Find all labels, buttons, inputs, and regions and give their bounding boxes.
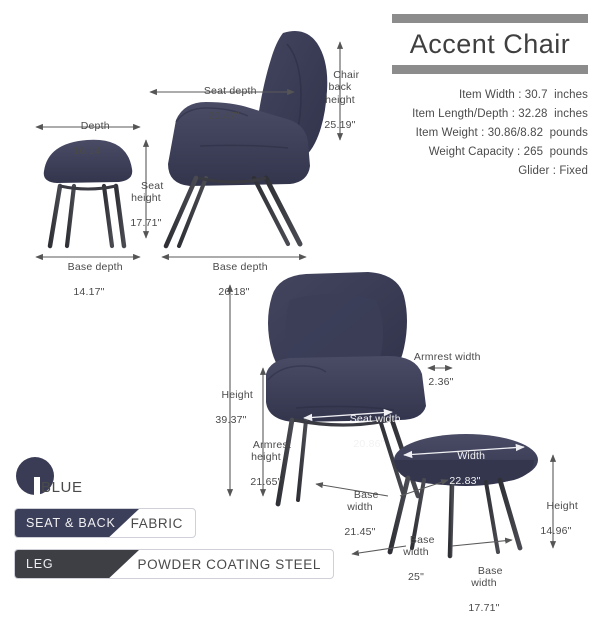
dim-label-text: Chair back height xyxy=(325,69,359,106)
dim-label-text: Seat depth xyxy=(204,85,257,97)
material-bar-key: SEAT & BACK xyxy=(26,508,116,538)
material-bar-seat-and-back: SEAT & BACK FABRIC xyxy=(14,508,196,538)
dim-label-text: Base width xyxy=(471,565,502,590)
dim-label-armrest-height: Armrest height 21.65" xyxy=(240,426,292,514)
dim-label-text: Depth xyxy=(81,120,110,132)
dim-label-text: Base width xyxy=(403,534,434,559)
dim-label-ottoman-depth: Depth 16.14" xyxy=(54,107,124,182)
spec-row-item-width: Item Width : 30.7 inches xyxy=(392,86,588,105)
product-spec-sheet: Depth 16.14" Base depth 14.17" Seat dept… xyxy=(0,0,600,600)
material-bar-leg: LEG POWDER COATING STEEL xyxy=(14,549,334,579)
dim-label-value: 26.18" xyxy=(194,286,274,299)
material-bar-key: LEG xyxy=(26,549,53,579)
divider-bottom xyxy=(392,65,588,74)
dim-label-value: 21.45" xyxy=(338,526,382,539)
dim-label-armrest-width: Armrest width 2.36" xyxy=(402,338,480,413)
spec-panel: Accent Chair Item Width : 30.7 inches It… xyxy=(392,14,588,181)
dim-label-text: Seat width xyxy=(350,413,401,425)
dim-label-value: 21.65" xyxy=(240,476,292,489)
dim-label-text: Armrest height xyxy=(251,439,291,464)
dim-label-value: 14.17" xyxy=(50,286,128,299)
dim-label-text: Height xyxy=(221,389,253,401)
dim-label-ottoman-width: Width 22.83" xyxy=(434,437,496,512)
swatch-label: BLUE xyxy=(41,479,83,496)
dim-label-text: Base depth xyxy=(68,261,123,273)
dim-label-ottoman-base-depth: Base depth 14.17" xyxy=(50,248,128,323)
dim-label-chair-base-depth: Base depth 26.18" xyxy=(194,248,274,323)
dim-label-ottoman-base-width: Base width 17.71" xyxy=(462,552,506,640)
dim-label-seat-width: Seat width 20.86" xyxy=(334,400,404,475)
dim-label-value: 25.19" xyxy=(316,119,364,132)
dim-label-value: 16.14" xyxy=(54,145,124,158)
dim-label-value: 22.83" xyxy=(434,475,496,488)
dim-label-value: 2.36" xyxy=(402,376,480,389)
dim-label-text: Base depth xyxy=(213,261,268,273)
dim-label-seat-depth: Seat depth 20.47" xyxy=(186,72,262,147)
dim-label-value: 20.86" xyxy=(334,438,404,451)
dim-label-value: 14.96" xyxy=(530,525,582,538)
spec-list: Item Width : 30.7 inches Item Length/Dep… xyxy=(392,86,588,181)
dim-label-chair-base-width: Base width 21.45" xyxy=(338,476,382,564)
material-bar-value: POWDER COATING STEEL xyxy=(137,549,321,579)
spec-row-glider: Glider : Fixed xyxy=(392,162,588,181)
swatch-notch xyxy=(34,477,40,495)
spec-row-item-length-depth: Item Length/Depth : 32.28 inches xyxy=(392,105,588,124)
spec-row-item-weight: Item Weight : 30.86/8.82 pounds xyxy=(392,124,588,143)
dim-label-value: 39.37" xyxy=(206,414,256,427)
dim-label-chair-back-height: Chair back height 25.19" xyxy=(316,56,364,156)
color-swatch: BLUE xyxy=(14,455,194,501)
material-bar-value: FABRIC xyxy=(131,508,183,538)
divider-top xyxy=(392,14,588,23)
dim-label-value: 20.47" xyxy=(186,110,262,123)
dim-label-value: 17.71" xyxy=(462,602,506,615)
dim-label-text: Height xyxy=(546,500,578,512)
dim-label-seat-height: Seat height 17.71" xyxy=(122,167,170,255)
dim-label-ottoman-height: Height 14.96" xyxy=(530,487,582,562)
dim-label-text: Base width xyxy=(347,489,378,514)
spec-row-weight-capacity: Weight Capacity : 265 pounds xyxy=(392,143,588,162)
dim-label-text: Armrest width xyxy=(414,351,481,363)
dim-label-text: Width xyxy=(457,450,485,462)
dim-label-text: Seat height xyxy=(131,180,163,205)
page-title: Accent Chair xyxy=(392,29,588,60)
dim-label-chair-base-width-front: Base width 25" xyxy=(394,521,438,609)
dim-label-value: 17.71" xyxy=(122,217,170,230)
dim-label-value: 25" xyxy=(394,571,438,584)
